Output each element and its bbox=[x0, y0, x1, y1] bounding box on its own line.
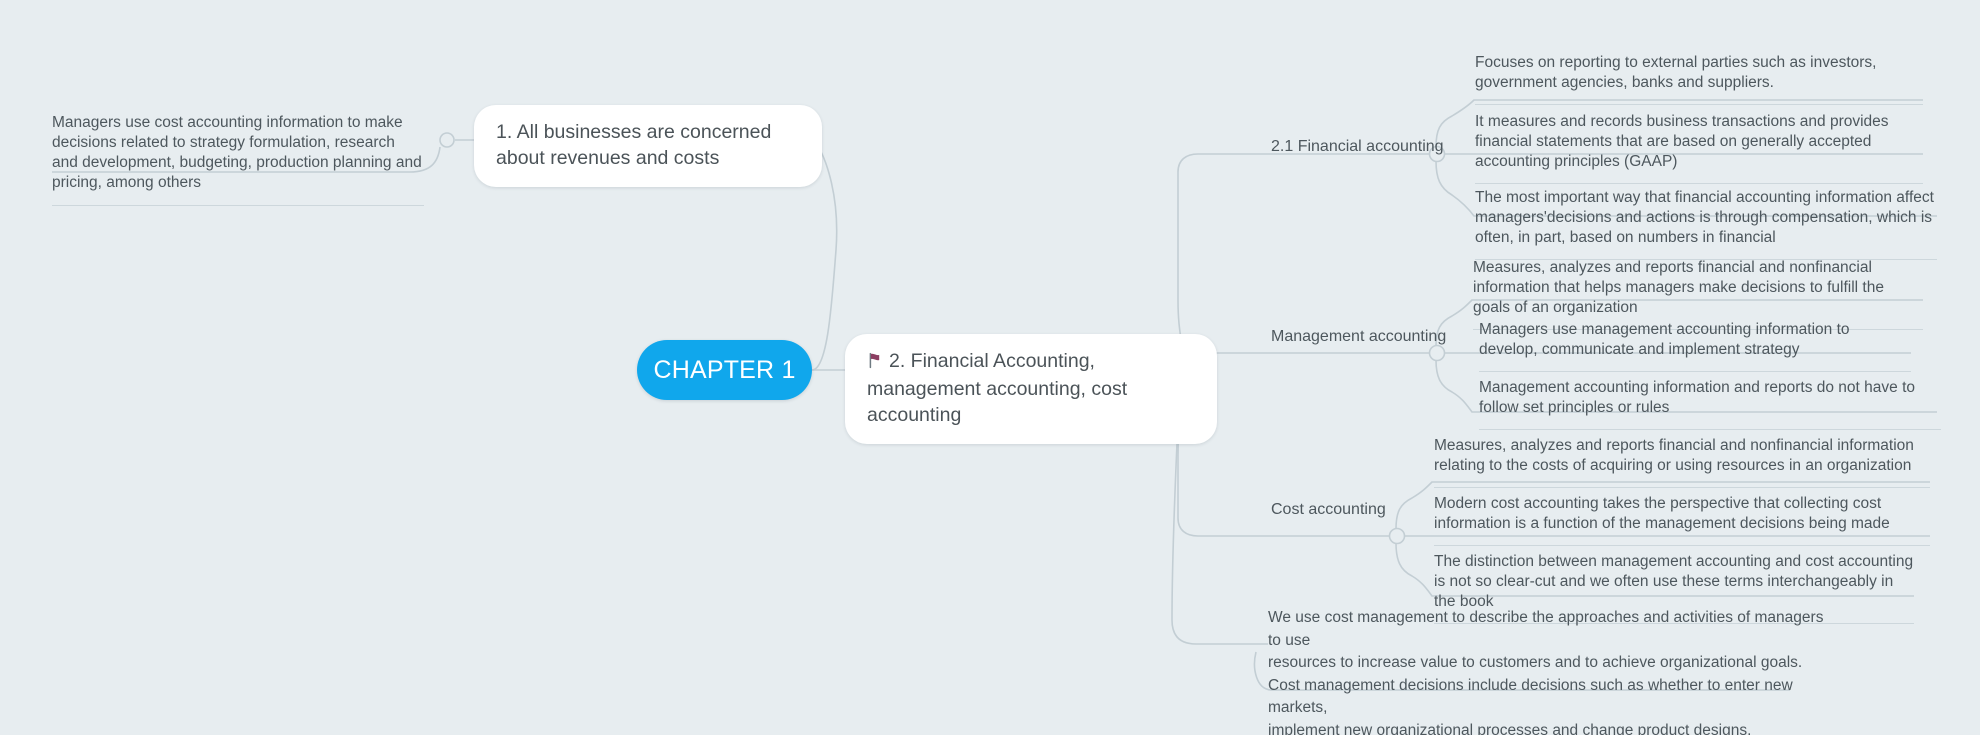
note-left-text: Managers use cost accounting information… bbox=[52, 113, 424, 193]
junction-management bbox=[1430, 346, 1445, 361]
note-cost-management-text: We use cost management to describe the a… bbox=[1268, 607, 1828, 735]
leaf-management-3-text: Management accounting information and re… bbox=[1479, 378, 1941, 418]
leaf-cost-2-text: Modern cost accounting takes the perspec… bbox=[1434, 494, 1930, 534]
junction-cost bbox=[1390, 529, 1405, 544]
leaf-financial-3: The most important way that financial ac… bbox=[1475, 188, 1937, 260]
topic-card-2-label: 2. Financial Accounting, management acco… bbox=[867, 348, 1197, 428]
leaf-financial-1: Focuses on reporting to external parties… bbox=[1475, 53, 1923, 105]
branch-label-financial-accounting[interactable]: 2.1 Financial accounting bbox=[1271, 137, 1444, 157]
leaf-financial-2: It measures and records business transac… bbox=[1475, 112, 1923, 184]
branch-label-management-accounting[interactable]: Management accounting bbox=[1271, 327, 1446, 347]
wire-hub-management bbox=[1186, 353, 1430, 366]
leaf-cost-1-text: Measures, analyzes and reports financial… bbox=[1434, 436, 1930, 476]
mindmap-canvas: Managers use cost accounting information… bbox=[0, 0, 1980, 735]
root-node-chapter-1[interactable]: CHAPTER 1 bbox=[637, 340, 812, 400]
root-node-label: CHAPTER 1 bbox=[653, 356, 795, 385]
topic-card-1[interactable]: 1. All businesses are concerned about re… bbox=[474, 105, 822, 187]
leaf-management-2-text: Managers use management accounting infor… bbox=[1479, 320, 1911, 360]
note-cost-management: We use cost management to describe the a… bbox=[1268, 607, 1828, 735]
junction-left-note bbox=[440, 133, 454, 147]
topic-card-1-label: 1. All businesses are concerned about re… bbox=[496, 119, 802, 171]
leaf-financial-1-text: Focuses on reporting to external parties… bbox=[1475, 53, 1923, 93]
branch-label-cost-accounting[interactable]: Cost accounting bbox=[1271, 500, 1386, 520]
topic-card-2[interactable]: 2. Financial Accounting, management acco… bbox=[845, 334, 1217, 444]
leaf-cost-3-text: The distinction between management accou… bbox=[1434, 552, 1914, 612]
leaf-financial-2-text: It measures and records business transac… bbox=[1475, 112, 1923, 172]
leaf-management-2: Managers use management accounting infor… bbox=[1479, 320, 1911, 372]
leaf-financial-3-text: The most important way that financial ac… bbox=[1475, 188, 1937, 248]
leaf-management-1-text: Measures, analyzes and reports financial… bbox=[1473, 258, 1923, 318]
flag-icon bbox=[867, 350, 884, 376]
leaf-management-3: Management accounting information and re… bbox=[1479, 378, 1941, 430]
leaf-cost-1: Measures, analyzes and reports financial… bbox=[1434, 436, 1930, 488]
topic-card-2-text: 2. Financial Accounting, management acco… bbox=[867, 350, 1127, 426]
note-left-managers: Managers use cost accounting information… bbox=[52, 113, 424, 206]
leaf-cost-2: Modern cost accounting takes the perspec… bbox=[1434, 494, 1930, 546]
